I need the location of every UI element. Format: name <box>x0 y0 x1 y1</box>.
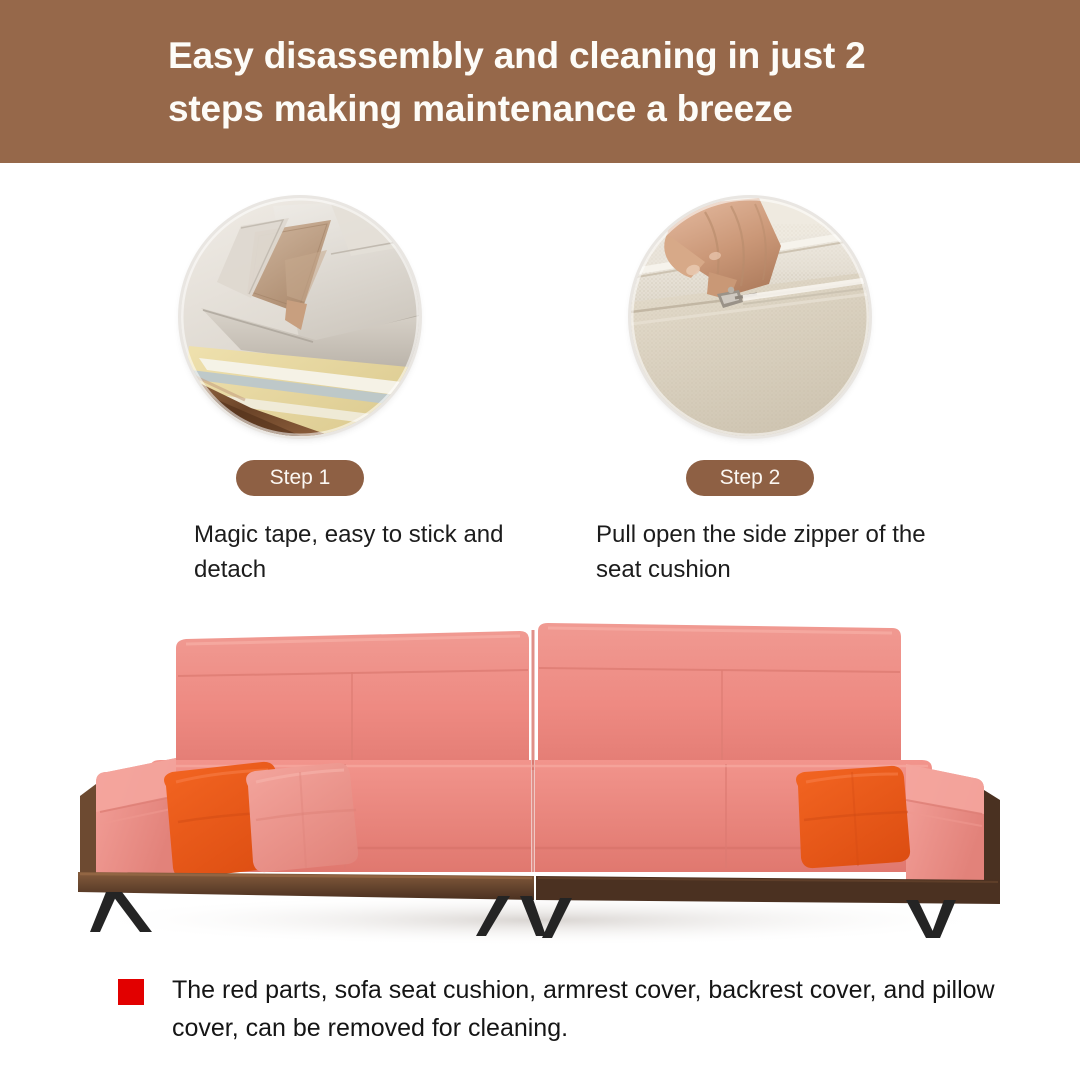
step-caption-2: Pull open the side zipper of the seat cu… <box>596 518 926 588</box>
removable-parts-note-text: The red parts, sofa seat cushion, armres… <box>172 972 998 1047</box>
step-badge-1[interactable]: Step 1 <box>236 460 364 496</box>
magic-tape-closeup-photo <box>181 198 419 436</box>
step-badge-2[interactable]: Step 2 <box>686 460 814 496</box>
removable-parts-note: The red parts, sofa seat cushion, armres… <box>118 972 998 1047</box>
header-band: Easy disassembly and cleaning in just 2 … <box>0 0 1080 163</box>
step-caption-1: Magic tape, easy to stick and detach <box>194 518 524 588</box>
step-card-2: Step 2 Pull open the side zipper of the … <box>540 180 960 588</box>
step-card-1: Step 1 Magic tape, easy to stick and det… <box>90 180 510 588</box>
coral-sofa-photo <box>0 600 1080 960</box>
red-square-bullet-icon <box>118 979 144 1005</box>
side-zipper-closeup-photo <box>631 198 869 436</box>
page-title: Easy disassembly and cleaning in just 2 … <box>168 30 968 135</box>
steps-row: Step 1 Magic tape, easy to stick and det… <box>0 180 1080 590</box>
